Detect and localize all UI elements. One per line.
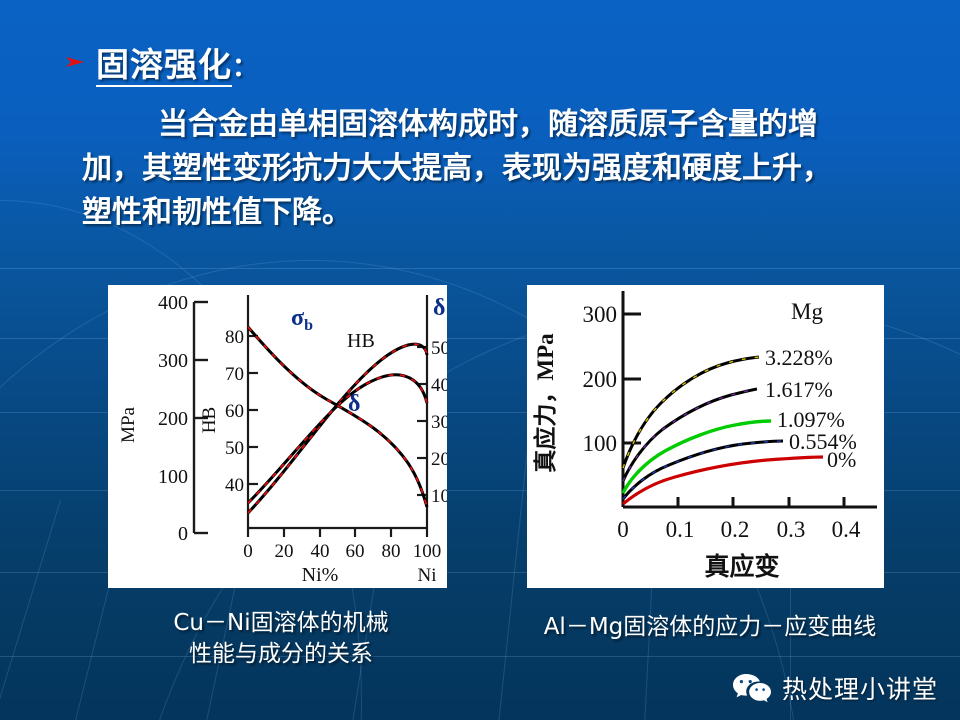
watermark: 热处理小讲堂 [732, 670, 938, 706]
page-title-colon: ： [232, 53, 259, 83]
x-axis-label-right: Ni [418, 565, 437, 586]
svg-text:20: 20 [275, 541, 294, 562]
svg-text:80: 80 [225, 327, 244, 348]
red-arrow-bullet-icon [64, 51, 86, 73]
svg-text:100: 100 [158, 466, 188, 488]
delta-tick-labels: 50 40 30 20 10 [431, 338, 447, 507]
caption-cu-ni: Cu－Ni固溶体的机械 性能与成分的关系 [96, 608, 466, 670]
x-axis-label: 真应变 [704, 552, 779, 581]
figure-al-mg: 300 200 100 真应力，MPa 0 0.1 0.2 0.3 0.4 真应… [527, 285, 884, 588]
svg-text:60: 60 [346, 541, 365, 562]
curve-label-0: 0% [827, 447, 856, 472]
svg-text:0.2: 0.2 [721, 517, 750, 542]
x-tick-labels: 0 0.1 0.2 0.3 0.4 [617, 517, 861, 542]
svg-text:0: 0 [178, 523, 188, 545]
x-axis-ticks [248, 528, 427, 537]
body-line-1: 当合金由单相固溶体构成时，随溶质原子含量的增 [82, 103, 912, 147]
cu-ni-chart: 400 300 200 100 0 MPa 80 [108, 285, 447, 588]
svg-text:0.4: 0.4 [832, 517, 861, 542]
svg-text:40: 40 [225, 475, 244, 496]
hb-tick-labels: 80 70 60 50 40 [225, 327, 244, 496]
page-title: 固溶强化： [64, 38, 259, 86]
curve-label-3-228: 3.228% [765, 345, 833, 370]
hb-axis-label: HB [199, 407, 220, 433]
svg-text:40: 40 [431, 375, 447, 396]
plot-frame [248, 295, 427, 528]
y-axis-ticks [623, 314, 641, 443]
chart-title-mg: Mg [791, 299, 823, 324]
slide-canvas: 固溶强化： 当合金由单相固溶体构成时，随溶质原子含量的增 加，其塑性变形抗力大大… [0, 0, 960, 720]
hb-axis-ticks [248, 336, 258, 484]
svg-text:0.3: 0.3 [777, 517, 806, 542]
annotation-delta-axis: δ [433, 295, 445, 321]
caption-al-mg: Al－Mg固溶体的应力－应变曲线 [500, 612, 920, 643]
al-mg-chart: 300 200 100 真应力，MPa 0 0.1 0.2 0.3 0.4 真应… [527, 285, 884, 588]
body-paragraph: 当合金由单相固溶体构成时，随溶质原子含量的增 加，其塑性变形抗力大大提高，表现为… [82, 103, 912, 235]
caption-cu-ni-line1: Cu－Ni固溶体的机械 [96, 608, 466, 639]
page-title-text: 固溶强化 [96, 45, 232, 87]
body-line-2: 加，其塑性变形抗力大大提高，表现为强度和硬度上升， [82, 147, 912, 191]
svg-text:0: 0 [617, 517, 629, 542]
svg-text:70: 70 [225, 364, 244, 385]
svg-text:60: 60 [225, 401, 244, 422]
curve-0 [623, 457, 823, 504]
mpa-axis-label: MPa [118, 406, 139, 442]
x-axis-label: Ni% [302, 564, 339, 586]
svg-text:20: 20 [431, 449, 447, 470]
annotation-delta: δ [348, 391, 360, 417]
annotation-sigma-b: σb [291, 305, 313, 334]
svg-text:200: 200 [583, 367, 618, 392]
svg-text:10: 10 [431, 486, 447, 507]
body-line-3: 塑性和韧性值下降。 [82, 191, 912, 235]
svg-text:200: 200 [158, 408, 188, 430]
wechat-icon [732, 672, 772, 704]
figure-cu-ni: 400 300 200 100 0 MPa 80 [108, 285, 447, 588]
caption-cu-ni-line2: 性能与成分的关系 [96, 639, 466, 670]
axes [623, 291, 877, 507]
curve-sigma-b [248, 344, 427, 513]
y-axis-label: 真应力，MPa [532, 333, 558, 473]
x-tick-labels: 0 20 40 60 80 100 [243, 541, 441, 562]
svg-text:300: 300 [158, 350, 188, 372]
curve-label-1-617: 1.617% [765, 377, 833, 402]
svg-text:80: 80 [382, 541, 401, 562]
annotation-hb: HB [347, 330, 375, 352]
svg-text:50: 50 [431, 338, 447, 359]
svg-text:300: 300 [583, 302, 618, 327]
delta-axis-ticks [417, 347, 427, 495]
svg-text:100: 100 [413, 541, 442, 562]
curve-labels: 3.228% 1.617% 1.097% 0.554% 0% [765, 345, 857, 472]
curve-1-097 [623, 421, 771, 493]
svg-text:30: 30 [431, 412, 447, 433]
svg-text:0.1: 0.1 [666, 517, 695, 542]
svg-text:400: 400 [158, 292, 188, 314]
svg-text:50: 50 [225, 438, 244, 459]
svg-text:0: 0 [243, 541, 253, 562]
y-tick-labels: 300 200 100 [583, 302, 618, 456]
svg-text:100: 100 [583, 431, 618, 456]
svg-text:40: 40 [311, 541, 330, 562]
mpa-tick-labels: 400 300 200 100 0 [158, 292, 188, 545]
watermark-text: 热处理小讲堂 [782, 670, 938, 706]
